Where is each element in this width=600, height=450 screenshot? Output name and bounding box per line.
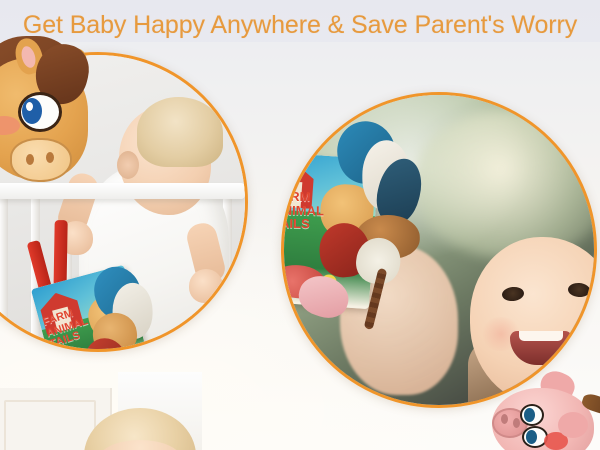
banner-canvas: FARM ANIMAL TAILS xyxy=(0,0,600,450)
product-cloth-book-crib: FARM ANIMAL TAILS xyxy=(25,217,160,352)
pig-pupil xyxy=(526,430,537,444)
horse-muzzle xyxy=(10,138,72,182)
book-strap xyxy=(54,220,68,286)
pig-nostril xyxy=(501,414,508,424)
baby-hair xyxy=(137,97,223,167)
car-window-blur xyxy=(412,109,597,259)
pig-pupil xyxy=(524,408,535,422)
page-title: Get Baby Happy Anywhere & Save Parent's … xyxy=(0,11,600,40)
horse-pupil-highlight xyxy=(26,102,33,111)
baby-ear xyxy=(117,151,139,179)
pig-nostril xyxy=(513,418,520,428)
book-title-line: TAILS xyxy=(281,217,322,231)
horse-nostril xyxy=(26,154,34,165)
horse-nostril xyxy=(46,152,54,163)
pig-cheek xyxy=(558,412,588,438)
pig-mascot xyxy=(486,378,600,450)
horse-pupil xyxy=(22,98,42,124)
baby-teeth xyxy=(519,331,564,341)
baby-hand xyxy=(189,269,223,303)
book-title: FARM ANIMAL TAILS xyxy=(281,190,323,232)
scene-image-car-seat: FARM ANIMAL TAILS xyxy=(281,92,597,408)
crib-bar xyxy=(0,197,8,352)
horse-mascot xyxy=(0,42,118,192)
